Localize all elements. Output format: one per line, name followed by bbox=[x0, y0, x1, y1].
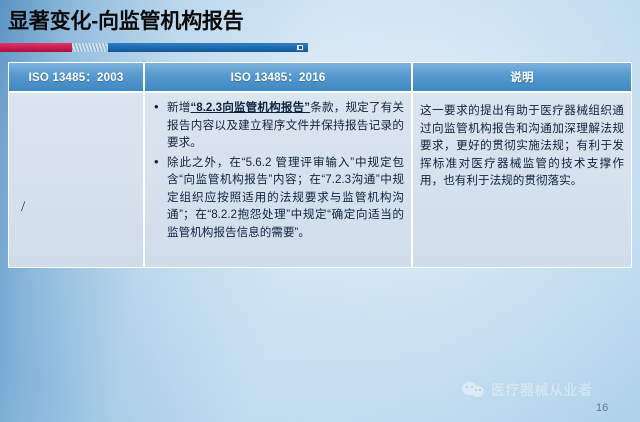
divider-blue-segment bbox=[108, 43, 308, 52]
table-row: / 新增“8.2.3向监管机构报告”条款，规定了有关报告内容以及建立程序文件并保… bbox=[8, 92, 632, 268]
bullet-2-suffix: 除此之外，在“5.6.2 管理评审输入”中规定包含“向监管机构报告”内容；在“7… bbox=[167, 156, 404, 239]
title-divider-bar bbox=[0, 43, 308, 52]
list-item: 除此之外，在“5.6.2 管理评审输入”中规定包含“向监管机构报告”内容；在“7… bbox=[152, 154, 404, 242]
table-header-note: 说明 bbox=[412, 62, 632, 92]
cell-note-text: 这一要求的提出有助于医疗器械组织通过向监管机构报告和沟通加深理解法规要求，更好的… bbox=[420, 102, 624, 190]
divider-zigzag-segment bbox=[72, 43, 108, 52]
wechat-icon bbox=[462, 382, 486, 399]
cell-note: 这一要求的提出有助于医疗器械组织通过向监管机构报告和沟通加深理解法规要求，更好的… bbox=[412, 92, 632, 268]
cell-iso-2003: / bbox=[8, 92, 144, 268]
slide-canvas: 显著变化-向监管机构报告 ISO 13485：2003 ISO 13485：20… bbox=[0, 0, 640, 422]
page-number: 16 bbox=[596, 402, 608, 414]
table-header-iso-2003: ISO 13485：2003 bbox=[8, 62, 144, 92]
comparison-table: ISO 13485：2003 ISO 13485：2016 说明 / 新增“8.… bbox=[8, 62, 632, 268]
cell-iso-2003-value: / bbox=[21, 199, 25, 216]
watermark: 医疗器械从业者 bbox=[462, 380, 593, 400]
table-header-row: ISO 13485：2003 ISO 13485：2016 说明 bbox=[8, 62, 632, 92]
watermark-label: 医疗器械从业者 bbox=[491, 380, 593, 400]
divider-red-segment bbox=[0, 43, 72, 52]
bullet-1-prefix: 新增 bbox=[167, 101, 190, 114]
page-title: 显著变化-向监管机构报告 bbox=[8, 9, 244, 35]
table-header-iso-2016: ISO 13485：2016 bbox=[144, 62, 412, 92]
list-item: 新增“8.2.3向监管机构报告”条款，规定了有关报告内容以及建立程序文件并保持报… bbox=[152, 99, 404, 152]
bullet-1-emphasis: “8.2.3向监管机构报告” bbox=[190, 101, 310, 114]
divider-end-marker-icon bbox=[296, 44, 304, 51]
cell-iso-2016: 新增“8.2.3向监管机构报告”条款，规定了有关报告内容以及建立程序文件并保持报… bbox=[144, 92, 412, 268]
iso-2016-bullet-list: 新增“8.2.3向监管机构报告”条款，规定了有关报告内容以及建立程序文件并保持报… bbox=[152, 99, 404, 241]
